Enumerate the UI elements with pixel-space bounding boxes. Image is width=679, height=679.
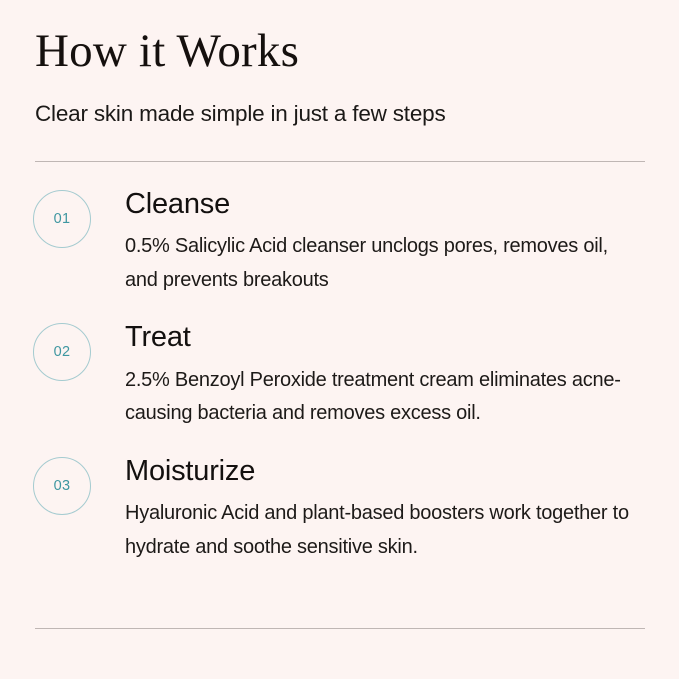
step-item-moisturize: 03 Moisturize Hyaluronic Acid and plant-… <box>0 453 679 564</box>
step-description: 0.5% Salicylic Acid cleanser unclogs por… <box>125 220 645 297</box>
page-subtitle: Clear skin made simple in just a few ste… <box>35 77 645 127</box>
steps-list: 01 Cleanse 0.5% Salicylic Acid cleanser … <box>0 186 679 564</box>
step-title: Cleanse <box>125 186 645 220</box>
divider-top <box>35 161 645 162</box>
step-badge-circle-02: 02 <box>33 323 91 381</box>
step-title: Moisturize <box>125 453 645 487</box>
step-item-cleanse: 01 Cleanse 0.5% Salicylic Acid cleanser … <box>0 186 679 297</box>
step-description: 2.5% Benzoyl Peroxide treatment cream el… <box>125 354 645 431</box>
how-it-works-panel: How it Works Clear skin made simple in j… <box>0 0 679 679</box>
step-number-label: 01 <box>54 212 71 227</box>
step-number-label: 03 <box>54 479 71 494</box>
step-description: Hyaluronic Acid and plant-based boosters… <box>125 487 645 564</box>
step-badge-circle-01: 01 <box>33 190 91 248</box>
step-badge-circle-03: 03 <box>33 457 91 515</box>
step-item-treat: 02 Treat 2.5% Benzoyl Peroxide treatment… <box>0 319 679 430</box>
step-title: Treat <box>125 319 645 353</box>
header: How it Works Clear skin made simple in j… <box>35 26 645 127</box>
divider-bottom <box>35 628 645 629</box>
step-number-label: 02 <box>54 345 71 360</box>
page-title: How it Works <box>35 26 645 77</box>
